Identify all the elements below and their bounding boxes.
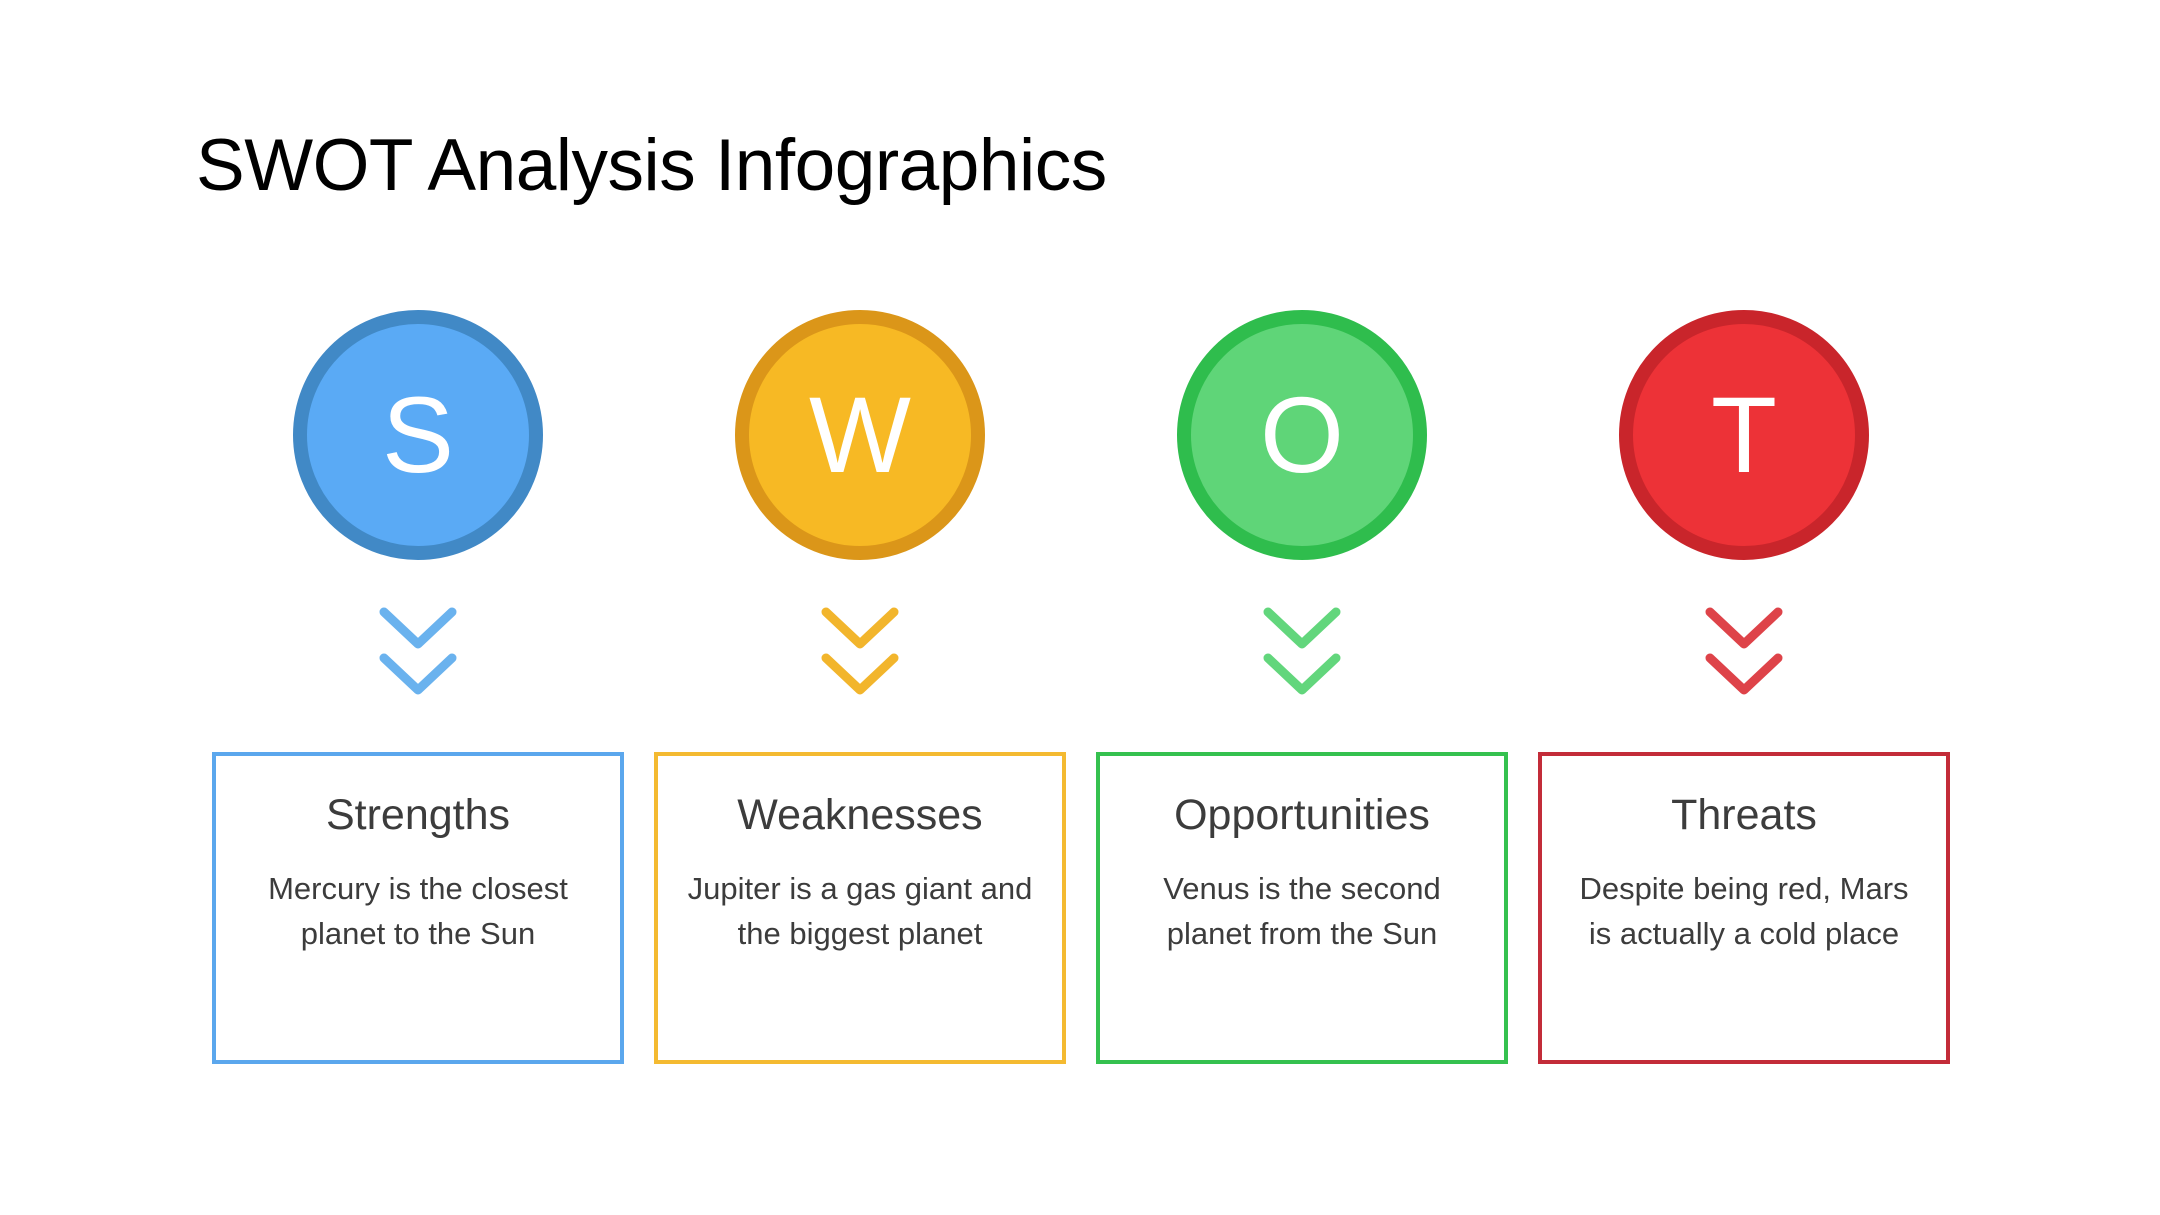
swot-card-strengths[interactable]: Strengths Mercury is the closest planet … [212, 752, 624, 1064]
badge-letter-opportunities: O [1260, 381, 1344, 489]
card-title-opportunities: Opportunities [1174, 792, 1430, 839]
badge-letter-weaknesses: W [809, 381, 911, 489]
swot-column-opportunities: O Opportunities Venus is the second plan… [1096, 310, 1508, 1080]
card-body-opportunities: Venus is the second planet from the Sun [1100, 867, 1504, 957]
swot-card-opportunities[interactable]: Opportunities Venus is the second planet… [1096, 752, 1508, 1064]
swot-columns: S Strengths Mercury is the closest plane… [212, 310, 1950, 1080]
card-body-weaknesses: Jupiter is a gas giant and the biggest p… [658, 867, 1062, 957]
swot-column-weaknesses: W Weaknesses Jupiter is a gas giant and … [654, 310, 1066, 1080]
page-title: SWOT Analysis Infographics [196, 128, 1107, 205]
badge-letter-threats: T [1711, 381, 1777, 489]
double-chevron-down-icon-strengths [364, 598, 472, 706]
card-title-weaknesses: Weaknesses [737, 792, 982, 839]
card-body-threats: Despite being red, Mars is actually a co… [1542, 867, 1946, 957]
double-chevron-down-icon-threats [1690, 598, 1798, 706]
double-chevron-down-icon-opportunities [1248, 598, 1356, 706]
card-title-threats: Threats [1671, 792, 1817, 839]
swot-column-threats: T Threats Despite being red, Mars is act… [1538, 310, 1950, 1080]
badge-circle-opportunities[interactable]: O [1177, 310, 1427, 560]
badge-letter-strengths: S [382, 381, 454, 489]
badge-circle-weaknesses[interactable]: W [735, 310, 985, 560]
badge-circle-threats[interactable]: T [1619, 310, 1869, 560]
swot-column-strengths: S Strengths Mercury is the closest plane… [212, 310, 624, 1080]
double-chevron-down-icon-weaknesses [806, 598, 914, 706]
swot-card-threats[interactable]: Threats Despite being red, Mars is actua… [1538, 752, 1950, 1064]
card-body-strengths: Mercury is the closest planet to the Sun [216, 867, 620, 957]
swot-card-weaknesses[interactable]: Weaknesses Jupiter is a gas giant and th… [654, 752, 1066, 1064]
card-title-strengths: Strengths [326, 792, 510, 839]
swot-infographic-slide: SWOT Analysis Infographics S Strengths M… [0, 0, 2160, 1215]
badge-circle-strengths[interactable]: S [293, 310, 543, 560]
